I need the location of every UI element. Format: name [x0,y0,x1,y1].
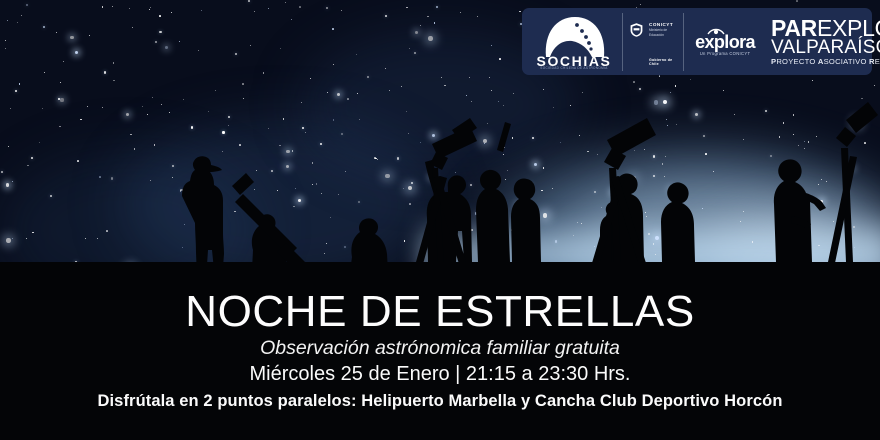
sochias-logo: SOCHIAS SOCIEDAD CHILENA DE ASTRONOMIA [528,11,620,73]
par-explora-wordmark: PAREXPLORA [771,17,880,39]
ministry-line-1: Ministerio de [649,28,673,32]
tagline-sociativo: SOCIATIVO [824,57,869,66]
explora-logo: explora Un Programa CONICYT [689,13,761,71]
par-tagline: PROYECTO ASOCIATIVO REGIONAL [771,57,880,66]
ministry-line-2: Educación [649,33,673,37]
poster-text-block: NOCHE DE ESTRELLAS Observación astrónomi… [0,288,880,414]
sochias-tagline: SOCIEDAD CHILENA DE ASTRONOMIA [528,65,620,70]
event-date-time: Miércoles 25 de Enero | 21:15 a 23:30 Hr… [0,360,880,388]
conicyt-text: CONICYT Ministerio de Educación [649,22,673,37]
conicyt-acronym: CONICYT [649,22,673,27]
page-title: NOCHE DE ESTRELLAS [0,288,880,336]
gobierno-de-chile-label: Gobierno de Chile [649,58,683,66]
sponsor-logo-bar: SOCHIAS SOCIEDAD CHILENA DE ASTRONOMIA C… [522,8,872,75]
observatory-dome-icon [542,15,608,57]
par-explora-logo: PAREXPLORA VALPARAÍSO PROYECTO ASOCIATIV… [761,17,880,66]
explora-subtitle: Un Programa CONICYT [689,51,761,56]
region-name: VALPARAÍSO [771,39,880,57]
conicyt-gobierno-logo: CONICYT Ministerio de Educación Gobierno… [622,13,684,71]
poster-subtitle: Observación astrónomica familiar gratuit… [0,336,880,360]
chile-coat-of-arms-icon [628,22,645,38]
explora-wordmark: explora [689,33,761,51]
tagline-egional: EGIONAL [875,57,880,66]
event-locations: Disfrútala en 2 puntos paralelos: Helipu… [0,388,880,414]
tagline-royecto: ROYECTO [776,57,818,66]
poster: SOCHIAS SOCIEDAD CHILENA DE ASTRONOMIA C… [0,0,880,440]
sochias-wordmark: SOCHIAS [528,55,620,67]
